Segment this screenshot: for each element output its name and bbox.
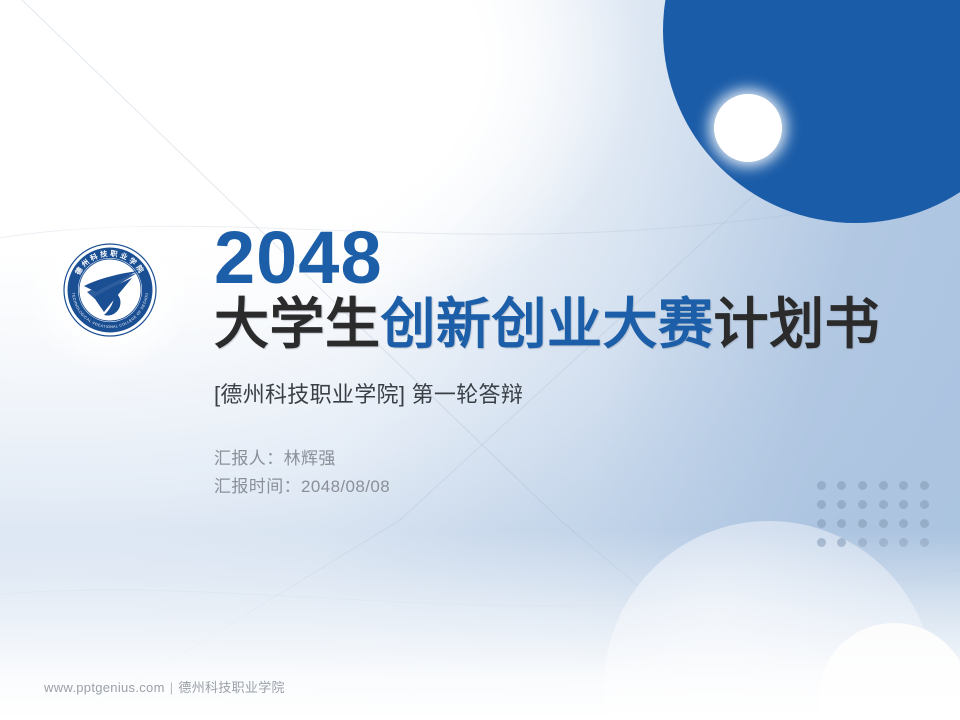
headline-accent: 创新创业大赛 [381, 293, 714, 355]
footer-separator: | [170, 680, 174, 695]
date-line: 汇报时间：2048/08/08 [214, 473, 914, 501]
footer-org: 德州科技职业学院 [178, 680, 284, 695]
subtitle: [德州科技职业学院] 第一轮答辩 [214, 380, 914, 411]
university-logo: 德州科技职业学院 TECHNOLOGICAL VOCATIONAL COLLEG… [46, 226, 174, 354]
headline-tail: 计划书 [714, 293, 881, 355]
decor-white-circle-top [714, 94, 782, 162]
year-heading: 2048 [214, 222, 914, 293]
headline: 大学生创新创业大赛计划书 [214, 295, 914, 354]
university-emblem-icon: 德州科技职业学院 TECHNOLOGICAL VOCATIONAL COLLEG… [60, 240, 160, 340]
title-text-block: 2048 大学生创新创业大赛计划书 [德州科技职业学院] 第一轮答辩 汇报人：林… [214, 222, 914, 500]
footer-site: www.pptgenius.com [44, 680, 165, 695]
presentation-meta: 汇报人：林辉强 汇报时间：2048/08/08 [214, 445, 914, 500]
presenter-line: 汇报人：林辉强 [214, 445, 914, 473]
footer: www.pptgenius.com|德州科技职业学院 [44, 677, 285, 696]
title-slide: 德州科技职业学院 TECHNOLOGICAL VOCATIONAL COLLEG… [0, 0, 960, 720]
headline-lead: 大学生 [214, 293, 381, 355]
